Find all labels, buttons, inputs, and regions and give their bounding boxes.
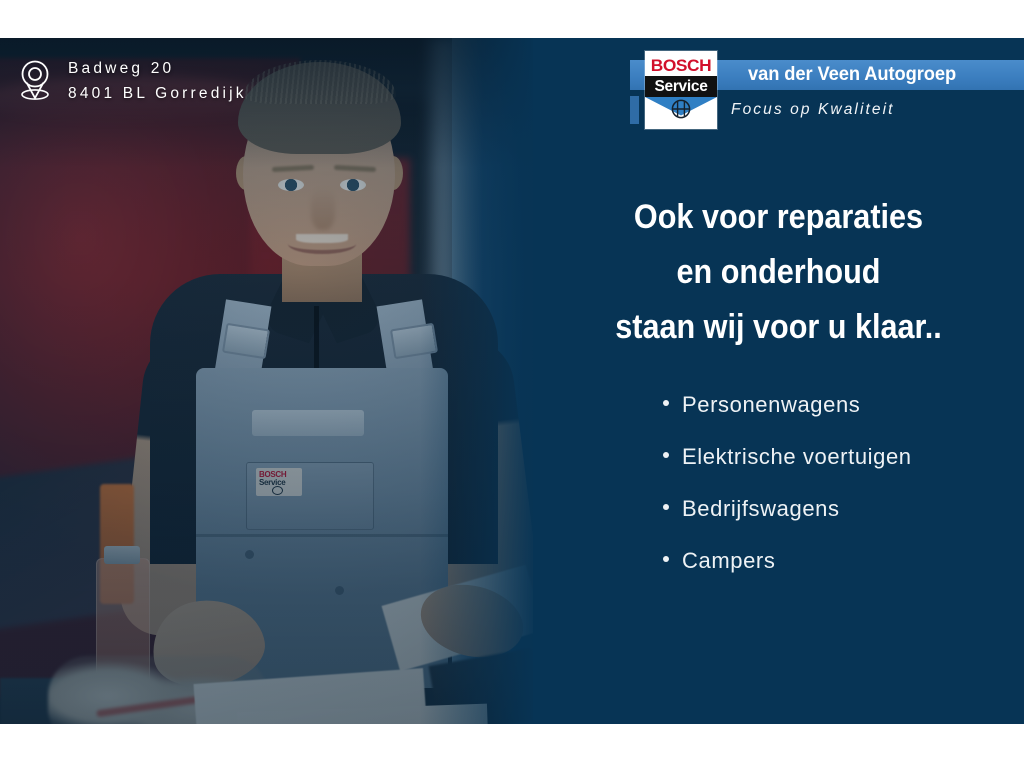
- company-tagline: Focus op Kwaliteit: [731, 101, 895, 119]
- bullet-dot-icon: [663, 504, 669, 510]
- service-label: Campers: [682, 548, 775, 574]
- service-label: Personenwagens: [682, 392, 860, 418]
- mechanic-photo: BOSCH Service: [0, 38, 533, 724]
- headline-line-2: en onderhoud: [558, 245, 1000, 300]
- address-street: Badweg 20: [68, 56, 247, 81]
- bullet-dot-icon: [663, 452, 669, 458]
- service-label: Elektrische voertuigen: [682, 444, 912, 470]
- photo-edge-fade: [420, 38, 533, 724]
- logo-bosch-text: BOSCH: [644, 56, 717, 76]
- address-block: Badweg 20 8401 BL Gorredijk: [18, 56, 247, 106]
- bullet-dot-icon: [663, 556, 669, 562]
- promo-banner: BOSCH Service: [0, 38, 1024, 724]
- logo-service-text: Service: [645, 76, 717, 97]
- info-panel: BOSCH Service van der Veen Autogroep Foc…: [533, 38, 1024, 724]
- list-item: Elektrische voertuigen: [663, 444, 912, 470]
- service-label: Bedrijfswagens: [682, 496, 840, 522]
- banner-page: BOSCH Service: [0, 0, 1024, 768]
- headline: Ook voor reparaties en onderhoud staan w…: [558, 190, 1000, 355]
- location-pin-icon: [18, 60, 52, 102]
- company-name: van der Veen Autogroep: [748, 63, 1007, 86]
- headline-line-1: Ook voor reparaties: [558, 190, 1000, 245]
- services-list: Personenwagens Elektrische voertuigen Be…: [663, 392, 912, 600]
- tagline-accent-block: [630, 96, 639, 124]
- list-item: Campers: [663, 548, 912, 574]
- address-lines: Badweg 20 8401 BL Gorredijk: [68, 56, 247, 106]
- bosch-armature-icon: [671, 99, 691, 119]
- list-item: Personenwagens: [663, 392, 912, 418]
- bullet-dot-icon: [663, 400, 669, 406]
- bosch-service-logo: BOSCH Service: [645, 51, 717, 129]
- address-city: 8401 BL Gorredijk: [68, 81, 247, 106]
- headline-line-3: staan wij voor u klaar..: [558, 300, 1000, 355]
- list-item: Bedrijfswagens: [663, 496, 912, 522]
